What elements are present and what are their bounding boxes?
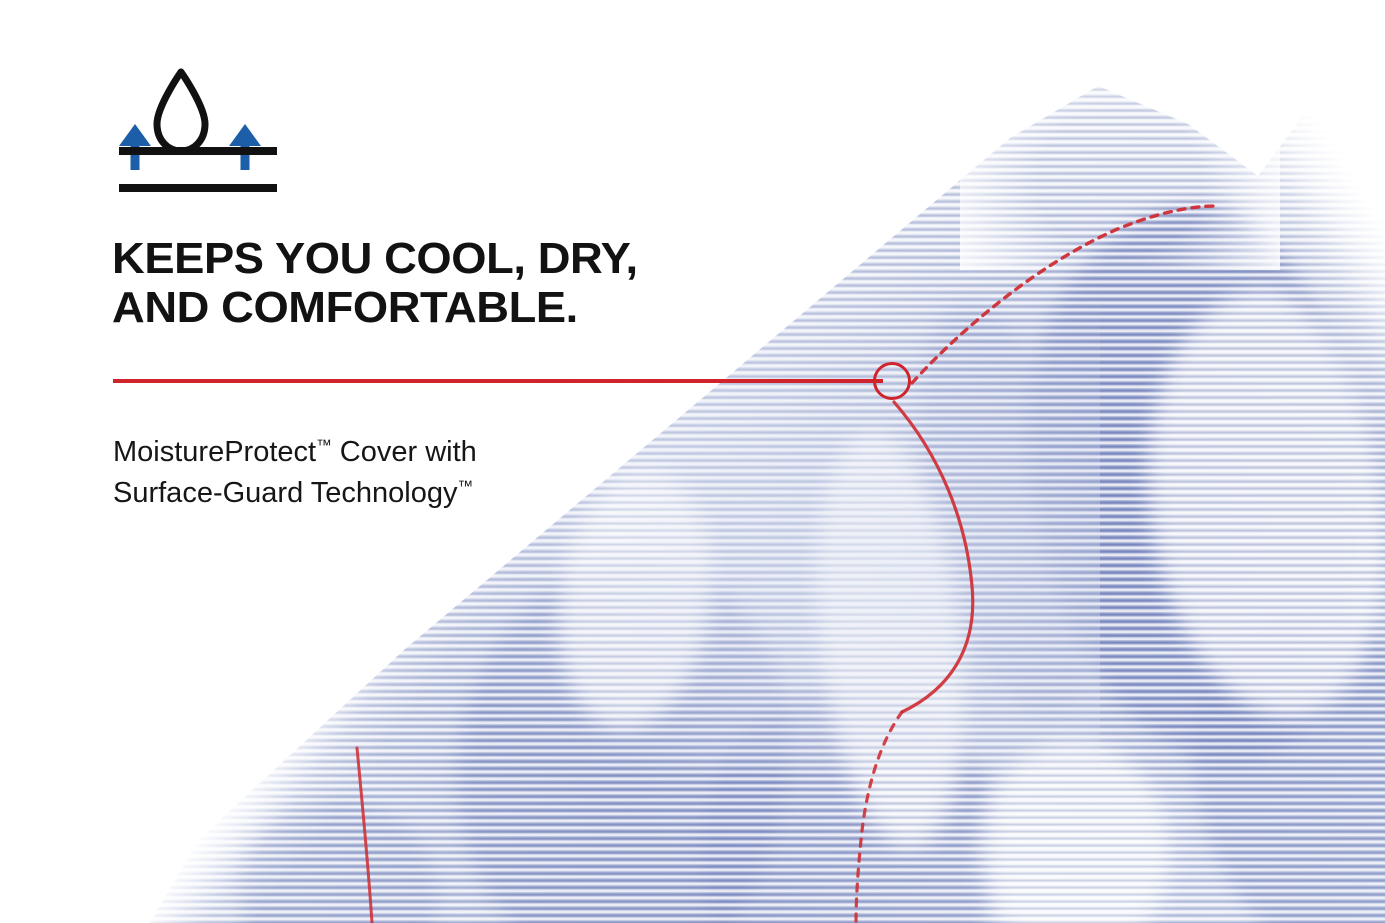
page-title: KEEPS YOU COOL, DRY, AND COMFORTABLE.: [112, 234, 771, 333]
feature-graphic: KEEPS YOU COOL, DRY, AND COMFORTABLE. Mo…: [0, 0, 1385, 923]
surface-bar-top: [119, 147, 277, 155]
moisture-wicking-icon: [113, 62, 289, 204]
callout-marker: [873, 362, 911, 400]
water-droplet-icon: [157, 72, 205, 151]
trademark-icon: ™: [457, 478, 473, 495]
surface-bar-bottom: [119, 184, 277, 192]
feature-name-secondary: Surface-Guard Technology: [113, 477, 457, 509]
callout-rule: [113, 379, 883, 383]
feature-name-primary: MoistureProtect: [113, 436, 316, 468]
trademark-icon: ™: [316, 437, 332, 454]
feature-description: MoistureProtect™ Cover withSurface-Guard…: [113, 432, 673, 513]
feature-suffix-primary: Cover with: [332, 436, 477, 468]
